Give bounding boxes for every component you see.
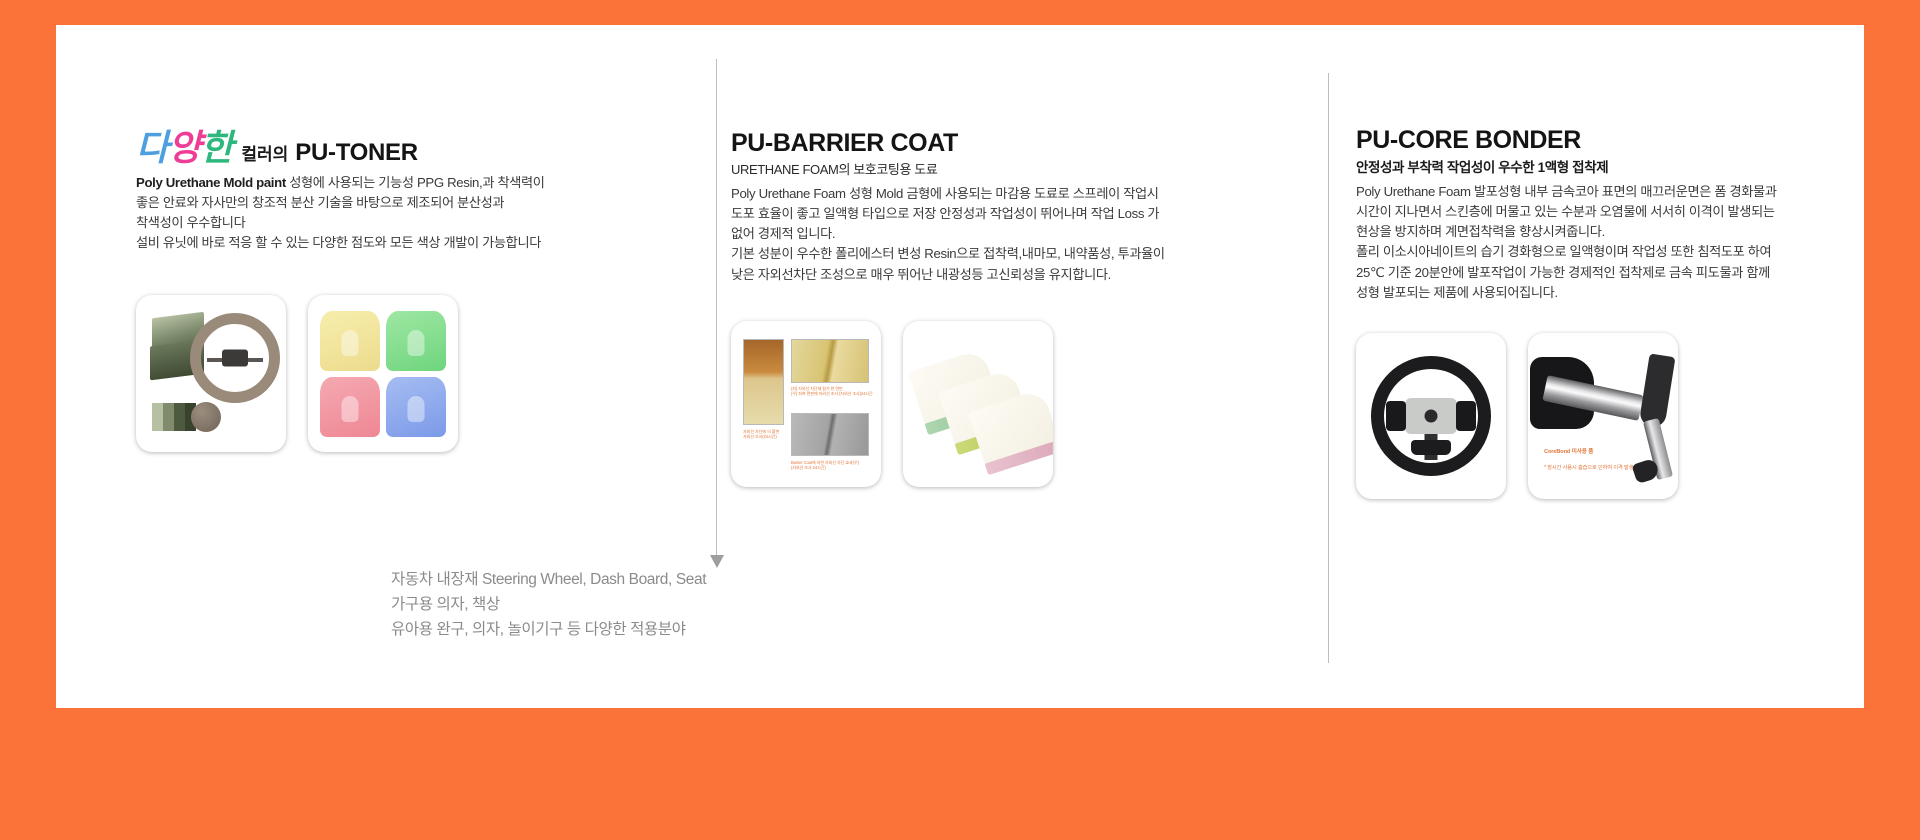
- toner-body-lead: Poly Urethane Mold paint: [136, 175, 286, 190]
- section-pu-toner: 다 양 한 컬러의 PU-TONER Poly Urethane Mold pa…: [136, 25, 696, 452]
- barrier-title: PU-BARRIER COAT: [731, 130, 1311, 156]
- toner-title: PU-TONER: [295, 139, 418, 167]
- bonder-subtitle: 안정성과 부착력 작업성이 우수한 1액형 접착제: [1356, 156, 1856, 176]
- tan-steering-wheel: [190, 313, 280, 403]
- vertical-divider-left: [716, 59, 717, 559]
- photo-steering-wheel-and-sage-samples[interactable]: [136, 295, 286, 452]
- bonder-photo-row: CoreBond 미사용 품 * 장시간 사용시 흡습으로 인하여 이격 발생: [1356, 333, 1856, 499]
- logo-suffix-label: 컬러의: [241, 140, 288, 165]
- photo-four-colored-baby-seats[interactable]: [308, 295, 458, 452]
- wheel-hub-plate: [1405, 398, 1457, 434]
- baby-seat-yellow: [320, 311, 380, 371]
- logo-syllable-yang: 양: [168, 130, 200, 166]
- logo-syllable-da: 다: [136, 130, 168, 166]
- bonder-body: Poly Urethane Foam 발포성형 내부 금속코아 표면의 매끄러운…: [1356, 182, 1856, 302]
- uv-panel-gray-pair: [791, 413, 869, 456]
- application-fields-caption: 자동차 내장재 Steering Wheel, Dash Board, Seat…: [391, 567, 706, 642]
- toner-body: Poly Urethane Mold paint 성형에 사용되는 기능성 PP…: [136, 173, 696, 253]
- baby-seat-pink: [320, 377, 380, 437]
- corebond-caption-title: CoreBond 미사용 품: [1544, 449, 1593, 455]
- toner-photo-row: [136, 295, 696, 452]
- wheel-grip-left: [1386, 401, 1406, 431]
- baby-seat-grid: [320, 311, 446, 437]
- baby-seat-green: [386, 311, 446, 371]
- tan-color-disc: [191, 402, 221, 432]
- section-pu-core-bonder: PU-CORE BONDER 안정성과 부착력 작업성이 우수한 1액형 접착제…: [1356, 25, 1856, 499]
- content-sheet: 다 양 한 컬러의 PU-TONER Poly Urethane Mold pa…: [56, 25, 1864, 708]
- uv-panel-gold-pair: [791, 339, 869, 383]
- arrow-head-icon: [710, 555, 724, 568]
- black-steering-wheel: [1371, 356, 1491, 476]
- uv-panel-yellowing: [743, 339, 784, 425]
- photo-metal-core-armrest-sample[interactable]: CoreBond 미사용 품 * 장시간 사용시 흡습으로 인하여 이격 발생: [1528, 333, 1678, 499]
- barrier-body: Poly Urethane Foam 성형 Mold 금형에 사용되는 마감용 …: [731, 184, 1311, 284]
- wheel-lower-trim: [1411, 440, 1451, 455]
- wheel-grip-right: [1456, 401, 1476, 431]
- corebond-caption-note: * 장시간 사용시 흡습으로 인하여 이격 발생: [1544, 465, 1633, 471]
- photo-stacked-foam-panels[interactable]: [903, 321, 1053, 487]
- toner-heading: 다 양 한 컬러의 PU-TONER: [136, 130, 696, 167]
- barrier-subtitle: URETHANE FOAM의 보호코팅용 도료: [731, 159, 1311, 178]
- barrier-photo-row: 자외선 차단에 의 황변 자외선 조사(24시간) (좌) 자외선 차단제 첨가…: [731, 321, 1311, 487]
- vertical-divider-right: [1328, 73, 1329, 663]
- section-pu-barrier-coat: PU-BARRIER COAT URETHANE FOAM의 보호코팅용 도료 …: [731, 25, 1311, 487]
- photo-uv-exposure-test-panels[interactable]: 자외선 차단에 의 황변 자외선 조사(24시간) (좌) 자외선 차단제 첨가…: [731, 321, 881, 487]
- color-chip-row: [152, 403, 196, 431]
- poster-page: 다 양 한 컬러의 PU-TONER Poly Urethane Mold pa…: [0, 0, 1920, 840]
- uv-caption-2: (좌) 자외선 차단제 첨가 한 면판 (우) 좌측 면판에 자외선 조사 (자…: [791, 386, 873, 398]
- uv-caption-1: 자외선 차단에 의 황변 자외선 조사(24시간): [743, 429, 779, 441]
- foam-armrest: [1639, 353, 1676, 428]
- baby-seat-blue: [386, 377, 446, 437]
- bonder-title: PU-CORE BONDER: [1356, 127, 1856, 153]
- uv-caption-3: Barrier Coat에 의한 자외선 차단 효과(우) (자외선 조사 24…: [791, 460, 859, 472]
- photo-black-steering-wheel[interactable]: [1356, 333, 1506, 499]
- logo-syllable-han: 한: [200, 130, 232, 166]
- corebond-caption: CoreBond 미사용 품 * 장시간 사용시 흡습으로 인하여 이격 발생: [1544, 440, 1633, 472]
